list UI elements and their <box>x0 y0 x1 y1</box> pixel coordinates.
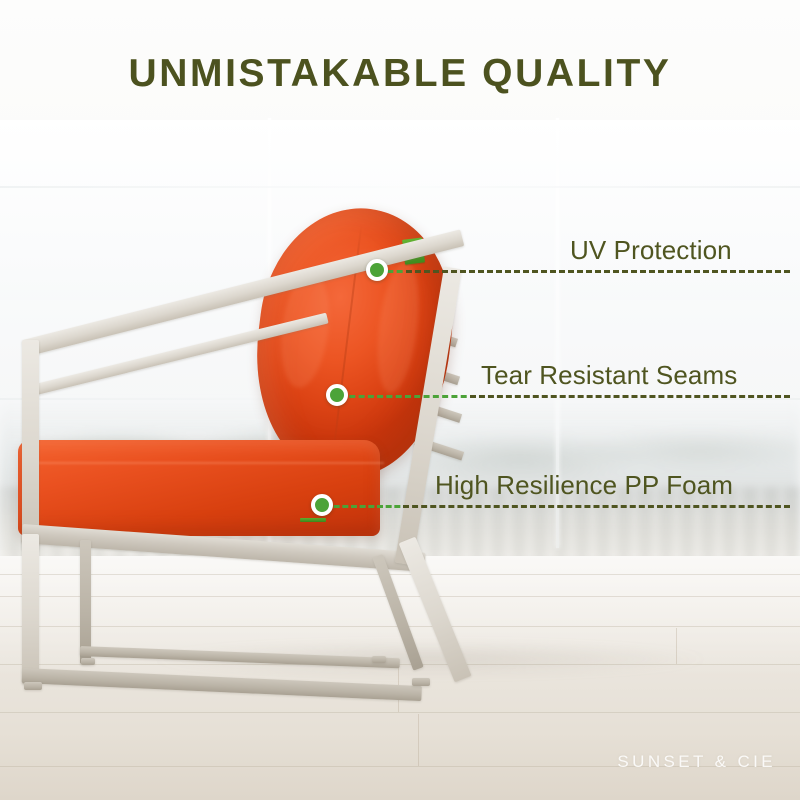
product-feature-graphic: UNMISTAKABLE QUALITY UV Protection Tear … <box>0 0 800 800</box>
floor-glide <box>412 678 430 686</box>
callout-label-tear-resistant-seams: Tear Resistant Seams <box>481 360 737 391</box>
lounge-chair <box>0 0 800 800</box>
floor-glide <box>372 656 386 663</box>
marker-dot-tear-resistant-seams[interactable] <box>326 384 348 406</box>
leader-line <box>406 270 790 273</box>
seat-welt-seam <box>28 462 384 464</box>
page-title: UNMISTAKABLE QUALITY <box>0 52 800 96</box>
marker-dot-high-resilience-pp-foam[interactable] <box>311 494 333 516</box>
callout-label-high-resilience-pp-foam: High Resilience PP Foam <box>435 470 733 501</box>
brand-watermark: SUNSET & CIE <box>617 752 776 772</box>
front-leg <box>22 534 39 684</box>
floor-glide <box>24 682 42 690</box>
leader-line <box>403 505 790 508</box>
leader-line-green <box>325 505 409 508</box>
leader-line-green <box>340 395 476 398</box>
leader-line <box>470 395 790 398</box>
seat-fabric-tag <box>300 518 326 522</box>
marker-dot-uv-protection[interactable] <box>366 259 388 281</box>
arm-front-post <box>22 340 39 550</box>
callout-label-uv-protection: UV Protection <box>570 235 732 266</box>
floor-glide <box>81 658 95 665</box>
inner-runner <box>80 646 400 668</box>
bottom-runner <box>22 668 422 701</box>
